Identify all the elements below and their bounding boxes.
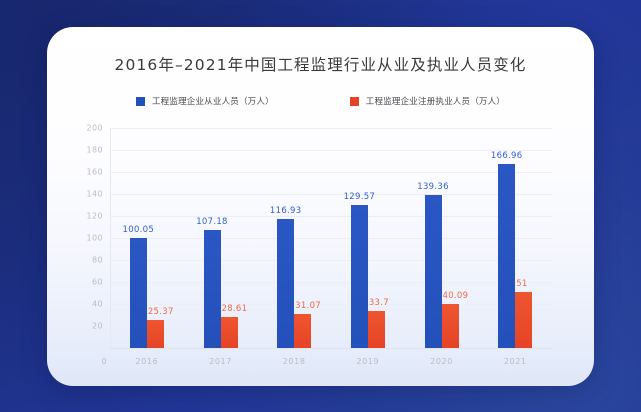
y-axis-tick-label: 100 xyxy=(87,234,103,243)
x-axis-labels: 201620172018201920202021 xyxy=(110,357,552,366)
x-axis-tick-label: 2020 xyxy=(405,357,479,366)
x-axis-tick-label: 2017 xyxy=(184,357,258,366)
gridline xyxy=(110,348,552,349)
legend-swatch-icon-series-1 xyxy=(136,97,145,106)
legend-label-series-2: 工程监理企业注册执业人员（万人） xyxy=(366,95,505,107)
bar[interactable]: 107.18 xyxy=(204,230,221,348)
bar-group: 100.0525.37 xyxy=(110,128,184,348)
bar-value-label: 51 xyxy=(516,279,527,289)
legend-item-series-1[interactable]: 工程监理企业从业人员（万人） xyxy=(136,95,274,107)
bar[interactable]: 25.37 xyxy=(147,320,164,348)
y-axis-tick-label: 20 xyxy=(92,322,103,331)
chart-legend: 工程监理企业从业人员（万人） 工程监理企业注册执业人员（万人） xyxy=(47,95,594,107)
bar-value-label: 28.61 xyxy=(222,304,248,314)
chart-title: 2016年–2021年中国工程监理行业从业及执业人员变化 xyxy=(47,53,594,75)
bar[interactable]: 129.57 xyxy=(351,205,368,348)
y-axis-tick-label: 80 xyxy=(92,256,103,265)
x-axis-tick-label: 2021 xyxy=(478,357,552,366)
bar-value-label: 100.05 xyxy=(123,225,155,235)
y-axis-tick-label: 140 xyxy=(87,190,103,199)
y-axis-tick-label: 180 xyxy=(87,146,103,155)
x-axis-tick-label: 2018 xyxy=(257,357,331,366)
y-axis-tick-label: 200 xyxy=(87,124,103,133)
legend-item-series-2[interactable]: 工程监理企业注册执业人员（万人） xyxy=(350,95,505,107)
bar-value-label: 31.07 xyxy=(295,301,321,311)
bar-value-label: 116.93 xyxy=(270,206,302,216)
bar-group: 107.1828.61 xyxy=(184,128,258,348)
chart-background: 2016年–2021年中国工程监理行业从业及执业人员变化 工程监理企业从业人员（… xyxy=(0,0,641,412)
legend-swatch-icon-series-2 xyxy=(350,97,359,106)
bar-group: 129.5733.7 xyxy=(331,128,405,348)
bar[interactable]: 116.93 xyxy=(277,219,294,348)
bar-value-label: 33.7 xyxy=(369,298,389,308)
bar[interactable]: 28.61 xyxy=(221,317,238,348)
bar[interactable]: 33.7 xyxy=(368,311,385,348)
bar-value-label: 107.18 xyxy=(196,217,228,227)
bar-group: 116.9331.07 xyxy=(257,128,331,348)
bar-group: 139.3640.09 xyxy=(405,128,479,348)
bar-value-label: 139.36 xyxy=(417,182,449,192)
bar-value-label: 129.57 xyxy=(344,192,376,202)
chart-card: 2016年–2021年中国工程监理行业从业及执业人员变化 工程监理企业从业人员（… xyxy=(47,27,594,386)
x-axis-tick-label: 2019 xyxy=(331,357,405,366)
bar-value-label: 166.96 xyxy=(491,151,523,161)
bar-groups: 100.0525.37107.1828.61116.9331.07129.573… xyxy=(110,128,552,348)
bar[interactable]: 100.05 xyxy=(130,238,147,348)
y-axis-tick-label: 160 xyxy=(87,168,103,177)
y-axis-tick-label: 40 xyxy=(92,300,103,309)
bar-value-label: 25.37 xyxy=(148,307,174,317)
y-axis-tick-label: 60 xyxy=(92,278,103,287)
bar[interactable]: 31.07 xyxy=(294,314,311,348)
plot-area: 20406080100120140160180200 100.0525.3710… xyxy=(110,128,552,348)
bar-group: 166.9651 xyxy=(478,128,552,348)
y-axis-tick-label: 120 xyxy=(87,212,103,221)
bar[interactable]: 51 xyxy=(515,292,532,348)
bar[interactable]: 40.09 xyxy=(442,304,459,348)
bar[interactable]: 139.36 xyxy=(425,195,442,348)
legend-label-series-1: 工程监理企业从业人员（万人） xyxy=(152,95,274,107)
bar[interactable]: 166.96 xyxy=(498,164,515,348)
x-axis-tick-label: 2016 xyxy=(110,357,184,366)
bar-value-label: 40.09 xyxy=(443,291,469,301)
